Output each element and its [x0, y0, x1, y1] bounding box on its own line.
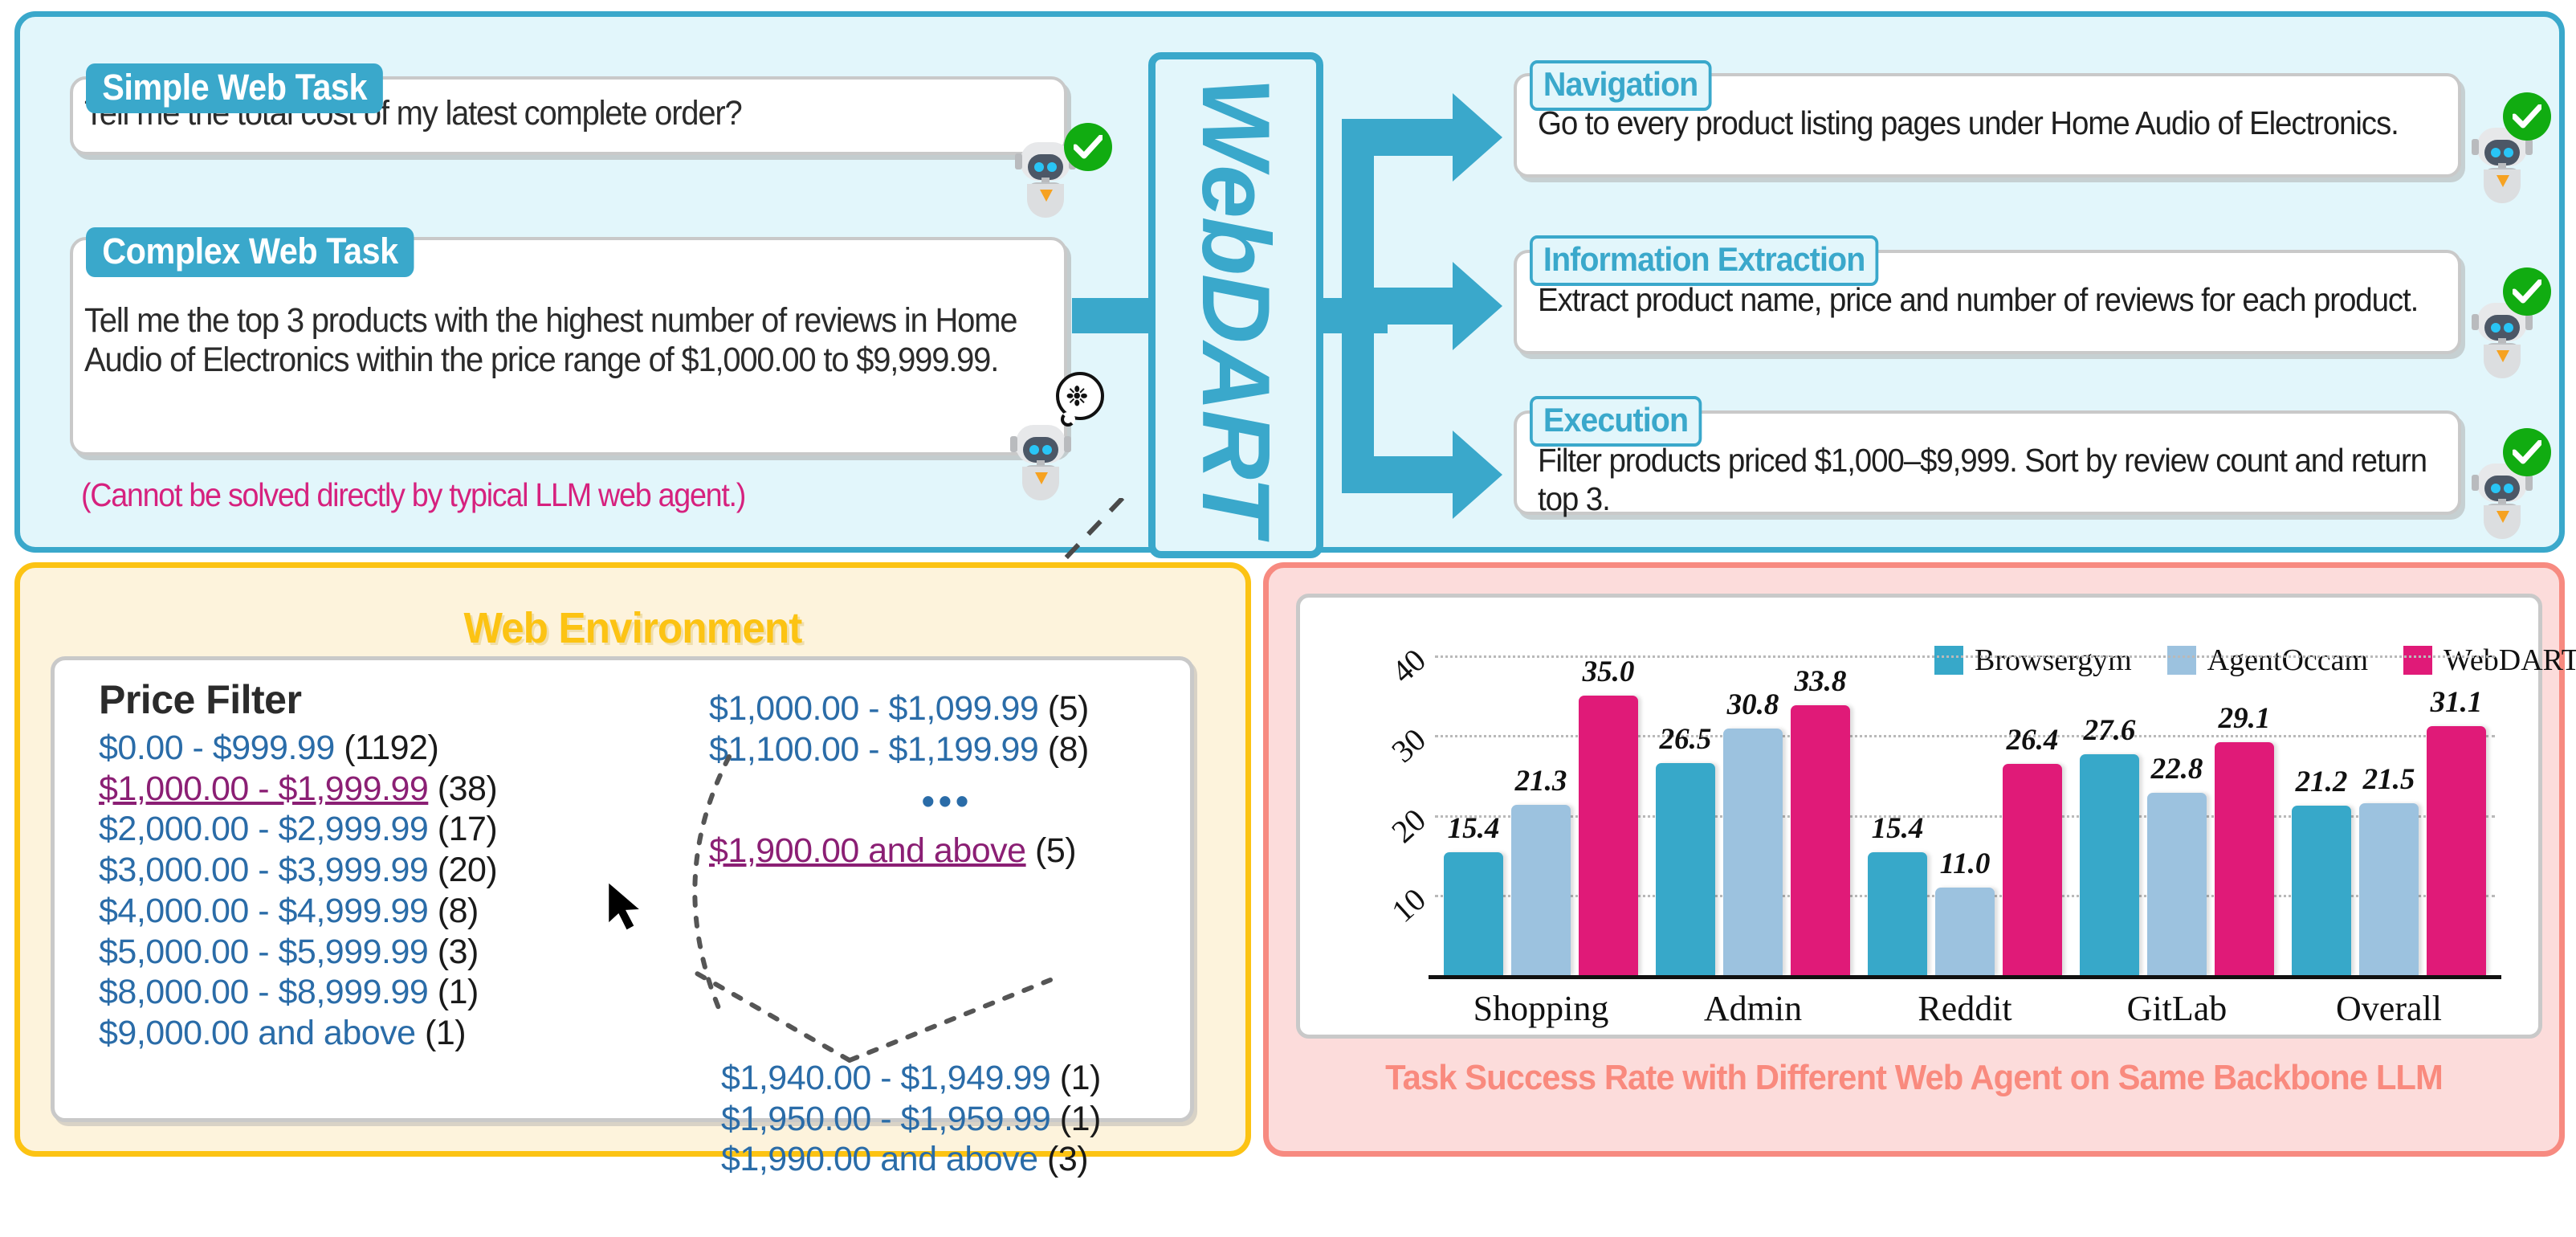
cannot-solve-note: (Cannot be solved directly by typical LL…: [81, 476, 745, 514]
price-range-count: (1): [438, 973, 479, 1011]
bar-value-label: 22.8: [2131, 752, 2223, 786]
price-range-label[interactable]: $0.00 - $999.99: [99, 729, 335, 767]
price-range-count: (17): [438, 810, 497, 848]
price-range-label-selected[interactable]: $1,000.00 - $1,999.99: [99, 770, 428, 808]
pipeline-panel: Simple Web Task Tell me the total cost o…: [14, 11, 2565, 553]
price-range-count: (20): [438, 851, 497, 889]
web-environment-panel: Web Environment Price Filter $0.00 - $99…: [14, 562, 1251, 1157]
price-filter-option[interactable]: $1,950.00 - $1,959.99 (1): [721, 1099, 1101, 1140]
chart-bar: [1511, 805, 1571, 975]
chart-bar: [1579, 696, 1638, 975]
complex-task-text: Tell me the top 3 products with the high…: [84, 301, 1070, 381]
bar-value-label: 33.8: [1775, 664, 1866, 699]
bar-value-label: 21.3: [1495, 764, 1587, 798]
execution-text: Filter products priced $1,000–$9,999. So…: [1538, 441, 2428, 519]
price-range-label[interactable]: $9,000.00 and above: [99, 1014, 416, 1052]
price-range-label[interactable]: $8,000.00 - $8,999.99: [99, 973, 428, 1011]
ellipsis-indicator: •••: [805, 779, 1089, 823]
y-tick-label: 40: [1348, 641, 1433, 723]
chart-bar: [1723, 729, 1783, 975]
price-range-label[interactable]: $1,000.00 - $1,099.99: [709, 689, 1038, 728]
y-tick-label: 10: [1348, 880, 1433, 962]
price-filter-column-1: $0.00 - $999.99 (1192) $1,000.00 - $1,99…: [99, 728, 497, 1054]
bar-value-label: 31.1: [2411, 685, 2502, 720]
price-range-label[interactable]: $4,000.00 - $4,999.99: [99, 892, 428, 930]
price-range-count: (38): [438, 770, 497, 808]
bar-value-label: 15.4: [1428, 811, 1519, 846]
x-tick-label: Shopping: [1435, 988, 1647, 1029]
chart-bar: [2292, 806, 2351, 975]
price-filter-option[interactable]: $5,000.00 - $5,999.99 (3): [99, 932, 497, 973]
webdart-label: WebDART: [1180, 77, 1291, 533]
confused-robot-icon: [1016, 418, 1066, 497]
input-connector: [1072, 298, 1152, 333]
simple-task-badge: Simple Web Task: [86, 63, 383, 113]
success-check-icon: [2503, 267, 2551, 316]
price-filter-option[interactable]: $1,900.00 and above (5): [709, 831, 1089, 872]
price-range-label[interactable]: $2,000.00 - $2,999.99: [99, 810, 428, 848]
bar-value-label: 26.5: [1640, 722, 1731, 757]
chart-bar: [2215, 742, 2274, 975]
price-filter-column-2: $1,000.00 - $1,099.99 (5) $1,100.00 - $1…: [709, 688, 1089, 872]
price-filter-option[interactable]: $8,000.00 - $8,999.99 (1): [99, 972, 497, 1013]
bar-value-label: 15.4: [1852, 811, 1943, 846]
bar-value-label: 35.0: [1563, 655, 1654, 689]
execution-badge: Execution: [1530, 396, 1702, 447]
price-range-count: (5): [1035, 831, 1076, 870]
price-filter-heading: Price Filter: [99, 676, 301, 723]
bar-value-label: 29.1: [2199, 701, 2290, 736]
information-extraction-text: Extract product name, price and number o…: [1538, 280, 2428, 319]
bar-chart: Browsergym AgentOccam WebDART 10203040 1…: [1296, 594, 2542, 1039]
chart-bar: [1868, 852, 1927, 975]
price-filter-option[interactable]: $9,000.00 and above (1): [99, 1013, 497, 1054]
price-filter-column-3: $1,940.00 - $1,949.99 (1) $1,950.00 - $1…: [721, 1058, 1101, 1180]
price-range-label[interactable]: $1,950.00 - $1,959.99: [721, 1100, 1050, 1138]
chart-bar: [2003, 764, 2062, 975]
price-range-label[interactable]: $3,000.00 - $3,999.99: [99, 851, 428, 889]
navigation-badge: Navigation: [1530, 60, 1711, 111]
price-range-count: (1): [1060, 1100, 1101, 1138]
agent-robot-icon: [1021, 136, 1070, 214]
x-axis-line: [1429, 975, 2501, 979]
price-filter-option[interactable]: $1,990.00 and above (3): [721, 1139, 1101, 1180]
price-range-label[interactable]: $1,990.00 and above: [721, 1140, 1038, 1178]
chart-bar: [2427, 726, 2486, 975]
price-filter-option[interactable]: $3,000.00 - $3,999.99 (20): [99, 850, 497, 891]
chart-bar: [2359, 803, 2419, 975]
mouse-cursor-1: [605, 880, 648, 934]
price-range-count: (5): [1048, 689, 1089, 728]
price-range-label[interactable]: $5,000.00 - $5,999.99: [99, 933, 428, 971]
chart-plot-area: 15.421.335.026.530.833.815.411.026.427.6…: [1435, 631, 2495, 975]
chart-bar: [1791, 705, 1850, 975]
price-filter-option[interactable]: $0.00 - $999.99 (1192): [99, 728, 497, 769]
x-tick-label: Admin: [1647, 988, 1859, 1029]
y-tick-label: 20: [1348, 801, 1433, 883]
bar-value-label: 27.6: [2064, 713, 2155, 748]
price-range-count: (1): [425, 1014, 466, 1052]
success-check-icon: [2503, 428, 2551, 476]
price-range-count: (3): [438, 933, 479, 971]
price-range-count: (8): [1048, 730, 1089, 769]
confusion-bubble-icon: ❉: [1056, 372, 1112, 428]
web-environment-title: Web Environment: [51, 603, 1215, 653]
chart-bar: [1656, 763, 1715, 975]
bar-value-label: 21.5: [2343, 762, 2435, 797]
price-filter-option[interactable]: $4,000.00 - $4,999.99 (8): [99, 891, 497, 932]
price-range-count: (8): [438, 892, 479, 930]
bar-value-label: 11.0: [1919, 847, 2011, 881]
success-check-icon: [1064, 123, 1112, 171]
price-range-count: (3): [1047, 1140, 1088, 1178]
chart-bar: [2147, 793, 2207, 975]
y-tick-label: 30: [1348, 721, 1433, 802]
zoom-connector-2: [649, 966, 1066, 1070]
price-filter-option[interactable]: $2,000.00 - $2,999.99 (17): [99, 809, 497, 850]
price-filter-option[interactable]: $1,100.00 - $1,199.99 (8): [709, 729, 1089, 770]
results-chart-panel: Browsergym AgentOccam WebDART 10203040 1…: [1263, 562, 2565, 1157]
chart-bar: [1935, 888, 1995, 975]
webdart-module: WebDART: [1148, 52, 1323, 558]
figure-root: Simple Web Task Tell me the total cost o…: [0, 0, 2576, 1237]
price-filter-option[interactable]: $1,000.00 - $1,999.99 (38): [99, 769, 497, 810]
complex-task-badge: Complex Web Task: [86, 227, 414, 277]
chart-bar: [2080, 754, 2139, 975]
information-extraction-badge: Information Extraction: [1530, 235, 1878, 286]
x-tick-label: GitLab: [2071, 988, 2283, 1029]
chart-caption: Task Success Rate with Different Web Age…: [1301, 1056, 2527, 1100]
x-tick-label: Reddit: [1859, 988, 2071, 1029]
price-range-count: (1192): [344, 729, 438, 767]
x-tick-label: Overall: [2283, 988, 2495, 1029]
success-check-icon: [2503, 92, 2551, 141]
price-range-label-selected[interactable]: $1,900.00 and above: [709, 831, 1026, 870]
price-filter-option[interactable]: $1,000.00 - $1,099.99 (5): [709, 688, 1089, 729]
chart-bar: [1444, 852, 1503, 975]
price-range-label[interactable]: $1,100.00 - $1,199.99: [709, 730, 1038, 769]
